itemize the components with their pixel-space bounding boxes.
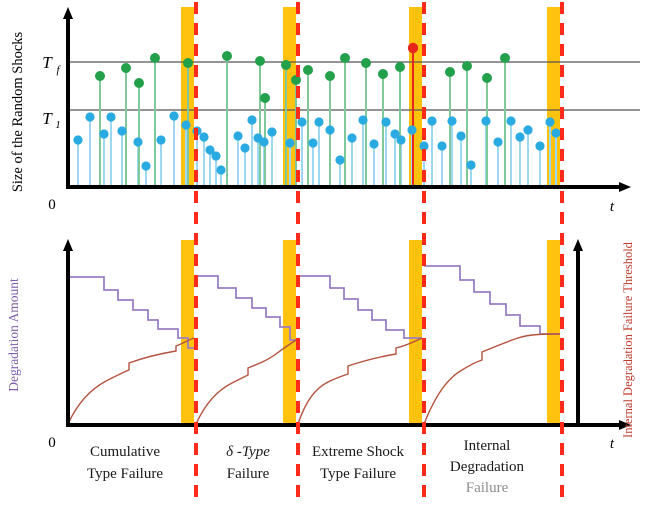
failure-caption-internal-degradation: Internal Degradation Failure — [450, 438, 525, 496]
shock-stems-small — [78, 116, 556, 187]
svg-text:f: f — [56, 64, 61, 76]
degradation-step-curves — [68, 266, 560, 348]
degradation-curve-4 — [424, 334, 560, 424]
failure-band-group-bottom — [181, 240, 560, 425]
failure-band-3-bottom — [409, 240, 422, 425]
top-x-axis-label: t — [610, 199, 615, 215]
bottom-y-axis-label: Degradation Amount — [6, 278, 21, 392]
bottom-y-origin-label: 0 — [48, 435, 56, 451]
svg-text:Failure: Failure — [227, 466, 270, 482]
failure-caption-delta: δ -Type Failure — [226, 444, 270, 482]
svg-text:Cumulative: Cumulative — [90, 444, 160, 460]
top-shock-panel: Size of the Random Shocks 0 t T f T 1 — [10, 7, 640, 215]
degradation-curve-3 — [298, 338, 422, 424]
svg-text:T: T — [42, 53, 53, 72]
degradation-curve-2 — [196, 340, 296, 424]
svg-text:δ -Type: δ -Type — [226, 444, 270, 460]
top-y-axis-label: Size of the Random Shocks — [10, 32, 26, 193]
svg-text:Failure: Failure — [466, 480, 509, 496]
svg-text:Extreme Shock: Extreme Shock — [312, 444, 405, 460]
technical-diagram: Size of the Random Shocks 0 t T f T 1 — [0, 0, 658, 507]
threshold-label-Tf: T f — [42, 53, 61, 76]
shock-dots-large — [95, 51, 510, 103]
failure-band-1-bottom — [181, 240, 194, 425]
step-curve-segment-4 — [424, 266, 560, 334]
svg-text:Type Failure: Type Failure — [87, 466, 163, 482]
bottom-degradation-panel: Degradation Amount 0 t Internal Degradat… — [6, 240, 635, 452]
threshold-label-T1: T 1 — [42, 109, 60, 131]
step-curve-segment-3 — [298, 276, 422, 338]
svg-text:1: 1 — [55, 119, 61, 131]
degradation-curves — [68, 334, 560, 424]
shock-dot-extreme — [408, 43, 418, 53]
step-curve-segment-1 — [68, 277, 194, 348]
failure-caption-extreme-shock: Extreme Shock Type Failure — [312, 444, 405, 482]
degradation-curve-1 — [68, 338, 194, 424]
top-y-origin-label: 0 — [48, 197, 56, 213]
failure-band-4-top — [547, 7, 560, 187]
bottom-right-axis-label: Internal Degradation Failure Threshold — [621, 241, 635, 438]
failure-caption-cumulative: Cumulative Type Failure — [87, 444, 163, 482]
failure-region-captions: Cumulative Type Failure δ -Type Failure … — [87, 438, 525, 496]
failure-band-4-bottom — [547, 240, 560, 425]
svg-text:Degradation: Degradation — [450, 459, 525, 475]
step-curve-segment-2 — [196, 276, 296, 340]
figure-root: Size of the Random Shocks 0 t T f T 1 — [0, 0, 658, 507]
svg-text:T: T — [42, 109, 53, 128]
bottom-x-axis-label: t — [610, 436, 615, 452]
svg-text:Type Failure: Type Failure — [320, 466, 396, 482]
svg-text:Internal: Internal — [464, 438, 511, 454]
failure-divider-group — [196, 2, 562, 505]
failure-band-3-top — [409, 7, 422, 187]
